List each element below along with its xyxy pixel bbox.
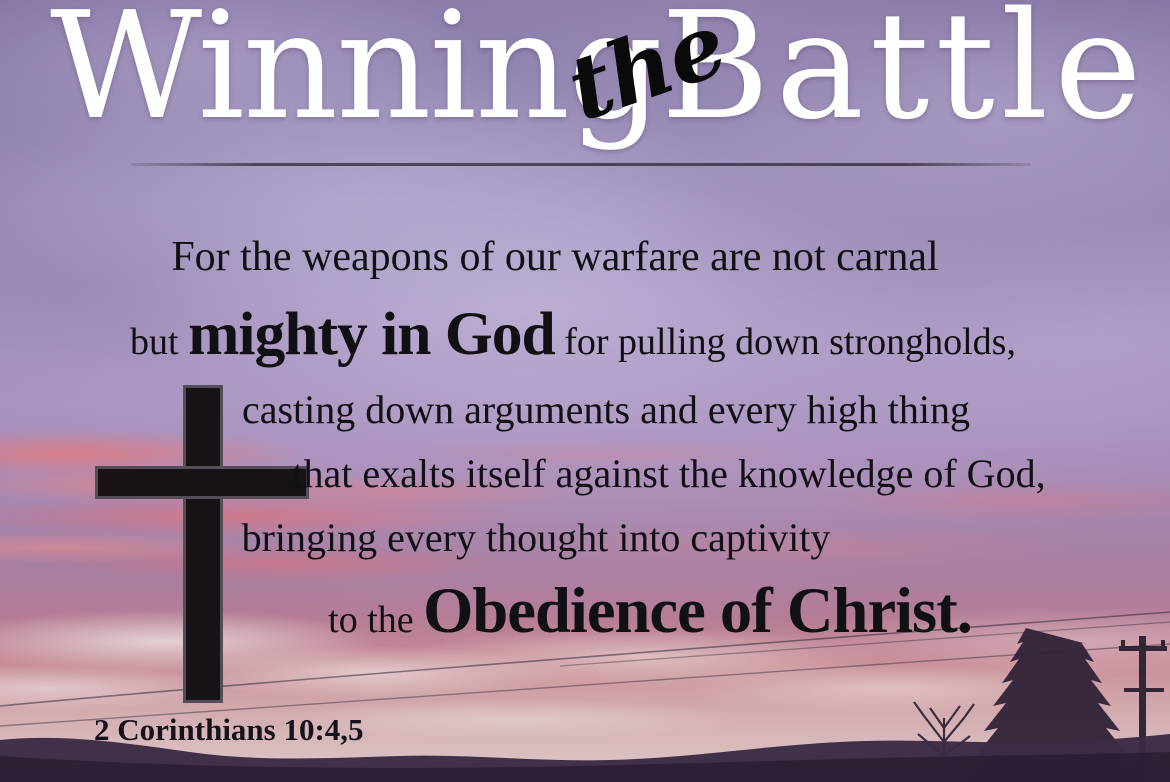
verse-segment: that exalts itself against the knowledge… xyxy=(292,451,1045,496)
verse-line-2: but mighty in God for pulling down stron… xyxy=(0,304,1170,366)
verse-line-1: For the weapons of our warfare are not c… xyxy=(0,236,1170,278)
verse-segment: bringing every thought into captivity xyxy=(242,515,831,560)
verse-line-4: that exalts itself against the knowledge… xyxy=(0,454,1170,494)
poster-canvas: WinningBattle the For the weapons of our… xyxy=(0,0,1170,782)
verse-emphasis-obedience-of-christ: Obedience of Christ. xyxy=(423,574,972,646)
verse-line-3: casting down arguments and every high th… xyxy=(0,390,1170,430)
title-word-battle: Battle xyxy=(661,0,1148,152)
scripture-citation: 2 Corinthians 10:4,5 xyxy=(94,712,364,748)
verse-segment: but xyxy=(130,321,188,363)
verse-segment: For the weapons of our warfare are not c… xyxy=(171,234,938,280)
title-block: WinningBattle the xyxy=(0,0,1170,185)
title-divider-rule xyxy=(131,163,1031,166)
verse-line-6: to the Obedience of Christ. xyxy=(0,578,1170,643)
verse-emphasis-mighty-in-god: mighty in God xyxy=(188,300,555,368)
verse-text-block: For the weapons of our warfare are not c… xyxy=(0,236,1170,642)
verse-segment: to the xyxy=(328,599,423,641)
verse-segment: casting down arguments and every high th… xyxy=(242,387,970,432)
verse-line-5: bringing every thought into captivity xyxy=(0,518,1170,558)
verse-segment: for pulling down strongholds, xyxy=(555,321,1016,363)
